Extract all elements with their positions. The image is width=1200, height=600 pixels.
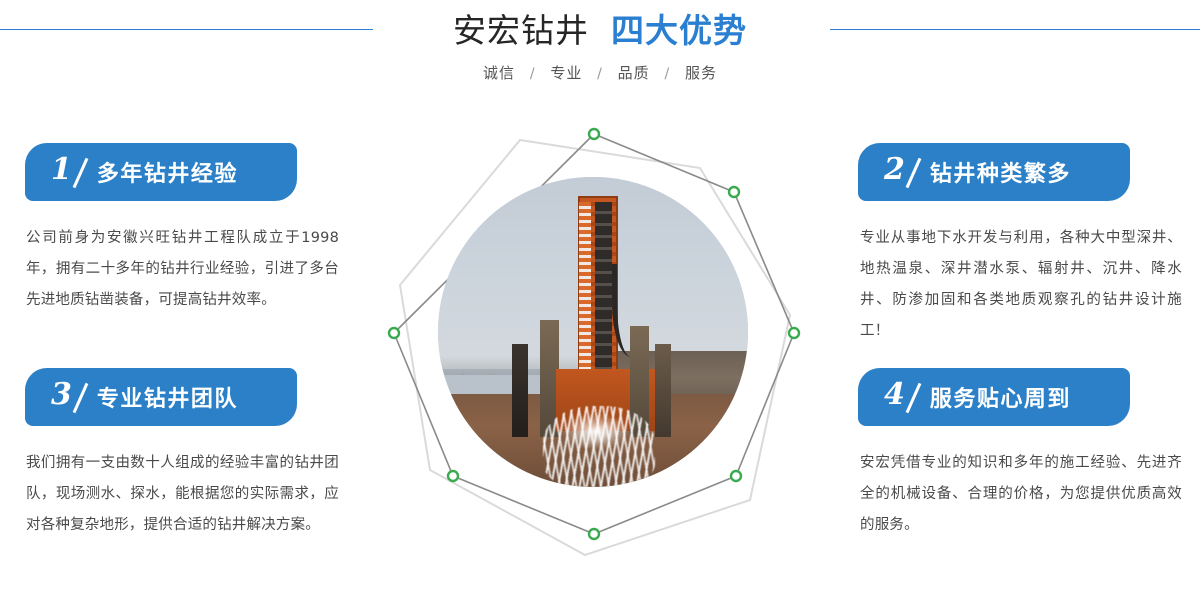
advantage-title-3: 专业钻井团队 — [97, 381, 238, 413]
badge-slash-icon — [906, 157, 922, 187]
advantage-body-2: 专业从事地下水开发与利用，各种大中型深井、地热温泉、深井潜水泵、辐射井、沉井、降… — [860, 223, 1182, 347]
center-graphic — [370, 110, 830, 590]
advantage-card-4[interactable]: 4 服务贴心周到 安宏凭借专业的知识和多年的施工经验、先进齐全的机械设备、合理的… — [858, 368, 1188, 541]
page-title: 安宏钻井四大优势 — [0, 8, 1200, 60]
vertex-marker-right — [789, 328, 799, 338]
badge-slash-icon — [73, 157, 89, 187]
subtitle-item-2: 专业 — [550, 64, 582, 82]
subtitle-item-3: 品质 — [618, 64, 650, 82]
badge-number-icon: 4 — [884, 380, 905, 410]
advantage-badge-1: 1 多年钻井经验 — [25, 143, 297, 201]
badge-number-icon: 1 — [51, 155, 72, 185]
subtitle-separator: / — [597, 66, 603, 82]
badge-number-icon: 3 — [51, 380, 72, 410]
page-header: 安宏钻井四大优势 诚信 / 专业 / 品质 / 服务 — [0, 0, 1200, 110]
advantage-badge-2: 2 钻井种类繁多 — [858, 143, 1130, 201]
advantage-badge-3: 3 专业钻井团队 — [25, 368, 297, 426]
advantage-body-1: 公司前身为安徽兴旺钻井工程队成立于1998年，拥有二十多年的钻井行业经验，引进了… — [26, 223, 339, 316]
title-highlight: 四大优势 — [611, 11, 747, 50]
photo-post — [655, 344, 671, 437]
subtitle-separator: / — [664, 66, 670, 82]
photo-rig-ladder — [579, 202, 591, 376]
advantage-title-2: 钻井种类繁多 — [930, 156, 1071, 188]
vertex-marker-bottom — [589, 529, 599, 539]
drilling-rig-photo — [438, 177, 748, 487]
badge-number-icon: 2 — [884, 155, 905, 185]
advantage-title-4: 服务贴心周到 — [930, 381, 1071, 413]
advantage-title-1: 多年钻井经验 — [97, 156, 238, 188]
advantage-card-3[interactable]: 3 专业钻井团队 我们拥有一支由数十人组成的经验丰富的钻井团队，现场测水、探水，… — [12, 368, 342, 541]
advantage-body-3: 我们拥有一支由数十人组成的经验丰富的钻井团队，现场测水、探水，能根据您的实际需求… — [26, 448, 339, 541]
subtitle-separator: / — [530, 66, 536, 82]
photo-post — [512, 344, 528, 437]
photo-rig-track — [595, 202, 612, 382]
advantage-card-1[interactable]: 1 多年钻井经验 公司前身为安徽兴旺钻井工程队成立于1998年，拥有二十多年的钻… — [12, 143, 342, 316]
advantage-card-2[interactable]: 2 钻井种类繁多 专业从事地下水开发与利用，各种大中型深井、地热温泉、深井潜水泵… — [858, 143, 1188, 347]
subtitle-item-1: 诚信 — [483, 64, 515, 82]
subtitle-keywords: 诚信 / 专业 / 品质 / 服务 — [0, 62, 1200, 83]
advantage-body-4: 安宏凭借专业的知识和多年的施工经验、先进齐全的机械设备、合理的价格，为您提供优质… — [860, 448, 1182, 541]
advantage-badge-4: 4 服务贴心周到 — [858, 368, 1130, 426]
badge-slash-icon — [906, 382, 922, 412]
badge-slash-icon — [73, 382, 89, 412]
photo-water-glow — [562, 413, 630, 450]
subtitle-item-4: 服务 — [685, 64, 717, 82]
vertex-marker-left — [389, 328, 399, 338]
vertex-marker-top — [589, 129, 599, 139]
title-company: 安宏钻井 — [453, 11, 589, 50]
